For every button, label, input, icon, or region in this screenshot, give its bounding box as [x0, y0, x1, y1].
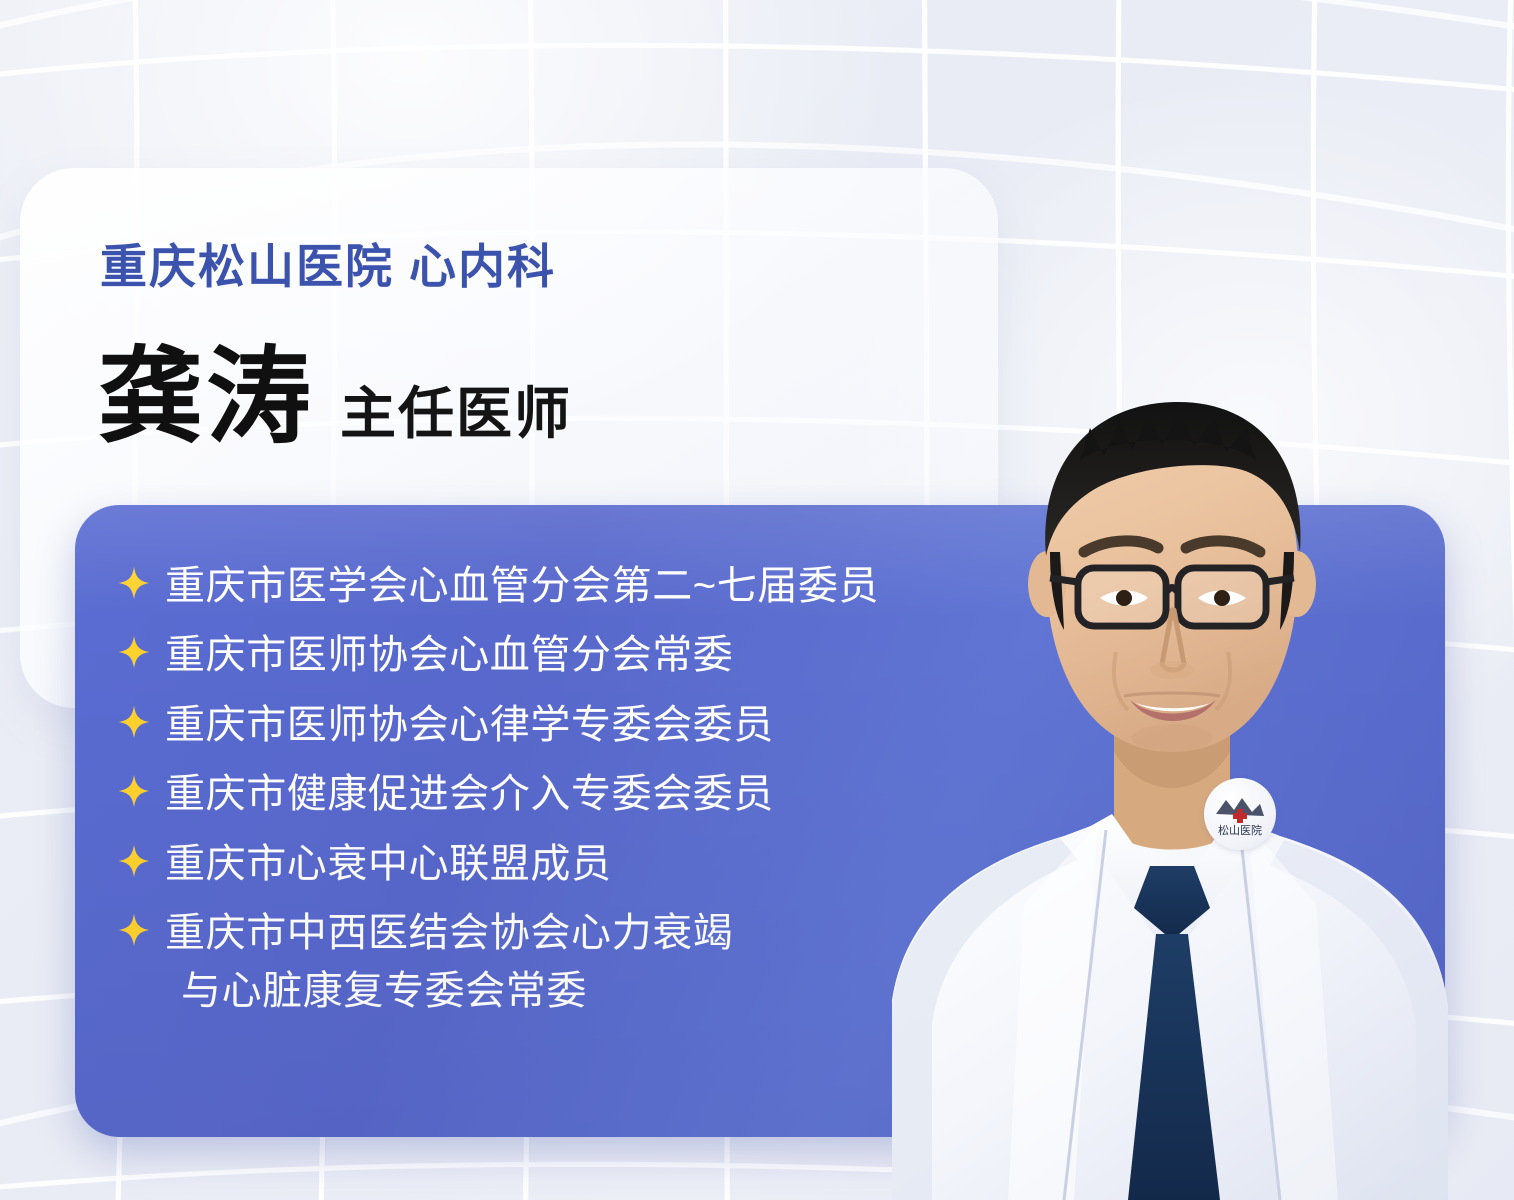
credential-item: 重庆市医师协会心律学专委会委员 [117, 696, 1415, 754]
credential-item: 重庆市中西医结会协会心力衰竭 与心脏康复专委会常委 [117, 904, 1415, 1021]
hospital-department-title: 重庆松山医院 心内科 [100, 228, 556, 297]
poster-canvas: 重庆松山医院 心内科 龚涛 主任医师 重庆市医学会心血管分会第二~七届委员 [0, 0, 1514, 1200]
credential-text: 重庆市中西医结会协会心力衰竭 与心脏康复专委会常委 [165, 904, 733, 1021]
credential-text: 重庆市医师协会心律学专委会委员 [165, 696, 774, 754]
hospital-badge-icon: 松山医院 [1204, 778, 1276, 850]
star-icon [117, 841, 151, 881]
credential-text-line2: 与心脏康复专委会常委 [165, 962, 733, 1020]
star-icon [117, 632, 151, 672]
credential-text: 重庆市医师协会心血管分会常委 [165, 626, 733, 684]
credential-text: 重庆市健康促进会介入专委会委员 [165, 765, 774, 823]
doctor-name: 龚涛 [98, 345, 314, 450]
doctor-name-row: 龚涛 主任医师 [98, 345, 572, 450]
credential-text: 重庆市医学会心血管分会第二~七届委员 [165, 557, 879, 615]
star-icon [117, 771, 151, 811]
star-icon [117, 702, 151, 742]
star-icon [117, 910, 151, 950]
credential-text: 重庆市心衰中心联盟成员 [165, 835, 612, 893]
credential-item: 重庆市医师协会心血管分会常委 [117, 626, 1415, 684]
star-icon [117, 563, 151, 603]
credential-item: 重庆市医学会心血管分会第二~七届委员 [117, 557, 1415, 615]
doctor-rank-title: 主任医师 [340, 386, 572, 442]
hospital-badge-text: 松山医院 [1218, 823, 1262, 837]
